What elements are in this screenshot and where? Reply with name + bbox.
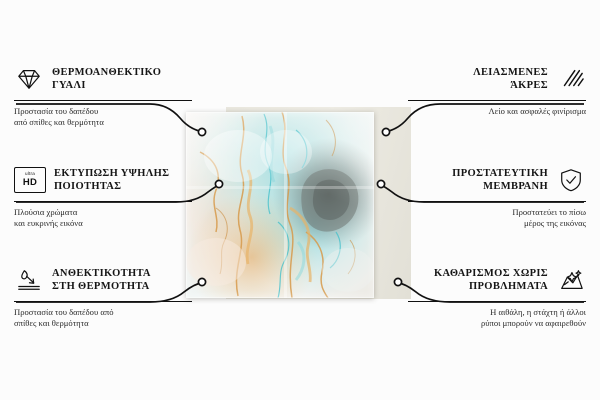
feature-easy-cleaning: ΚΑΘΑΡΙΣΜΟΣ ΧΩΡΙΣ ΠΡΟΒΛΗΜΑΤΑ Η αιθάλη, η …: [408, 263, 586, 330]
feature-title: ΘΕΡΜΟΑΝΘΕΚΤΙΚΟ ΓΥΑΛΙ: [52, 66, 161, 92]
feature-description: Πλούσια χρώματα και ευκρινής εικόνα: [14, 207, 192, 230]
feature-heat-resistant-glass: ΘΕΡΜΟΑΝΘΕΚΤΙΚΟ ΓΥΑΛΙ Προστασία του δαπέδ…: [14, 62, 192, 129]
feature-divider: [408, 201, 586, 202]
feature-description: Προστασία του δαπέδου από σπίθες και θερ…: [14, 106, 192, 129]
feature-title: ΠΡΟΣΤΑΤΕΥΤΙΚΗ ΜΕΜΒΡΑΝΗ: [452, 167, 548, 193]
feature-title: ΚΑΘΑΡΙΣΜΟΣ ΧΩΡΙΣ ΠΡΟΒΛΗΜΑΤΑ: [434, 267, 548, 293]
feature-description: Η αιθάλη, η στάχτη ή άλλοι ρύποι μπορούν…: [408, 307, 586, 330]
shield-check-icon: [556, 167, 586, 193]
easy-cleaning-sparkle-icon: [556, 267, 586, 293]
connector-dot-6: [394, 278, 401, 285]
feature-divider: [14, 100, 192, 101]
connector-dot-3: [198, 278, 205, 285]
feature-protective-film: ΠΡΟΣΤΑΤΕΥΤΙΚΗ ΜΕΜΒΡΑΝΗ Προστατεύει το πί…: [408, 163, 586, 230]
flame-heat-resistance-icon: [14, 267, 44, 293]
feature-divider: [408, 301, 586, 302]
feature-title: ΑΝΘΕΚΤΙΚΟΤΗΤΑ ΣΤΗ ΘΕΡΜΟΤΗΤΑ: [52, 267, 151, 293]
feature-description: Λείο και ασφαλές φινίρισμα: [408, 106, 586, 117]
feature-header: ultra HD ΕΚΤΥΠΩΣΗ ΥΨΗΛΗΣ ΠΟΙΟΤΗΤΑΣ: [14, 163, 192, 197]
ultra-hd-icon: ultra HD: [14, 167, 46, 193]
feature-description: Προστατεύει το πίσω μέρος της εικόνας: [408, 207, 586, 230]
feature-polished-edges: ΛΕΙΑΣΜΕΝΕΣ ΆΚΡΕΣ Λείο και ασφαλές φινίρι…: [408, 62, 586, 117]
infographic-stage: ΘΕΡΜΟΑΝΘΕΚΤΙΚΟ ΓΥΑΛΙ Προστασία του δαπέδ…: [0, 0, 600, 400]
feature-header: ΛΕΙΑΣΜΕΝΕΣ ΆΚΡΕΣ: [408, 62, 586, 96]
feature-title: ΕΚΤΥΠΩΣΗ ΥΨΗΛΗΣ ΠΟΙΟΤΗΤΑΣ: [54, 167, 169, 193]
connector-dot-1: [198, 128, 205, 135]
feature-header: ΠΡΟΣΤΑΤΕΥΤΙΚΗ ΜΕΜΒΡΑΝΗ: [408, 163, 586, 197]
feature-high-quality-print: ultra HD ΕΚΤΥΠΩΣΗ ΥΨΗΛΗΣ ΠΟΙΟΤΗΤΑΣ Πλούσ…: [14, 163, 192, 230]
feature-header: ΑΝΘΕΚΤΙΚΟΤΗΤΑ ΣΤΗ ΘΕΡΜΟΤΗΤΑ: [14, 263, 192, 297]
feature-header: ΘΕΡΜΟΑΝΘΕΚΤΙΚΟ ΓΥΑΛΙ: [14, 62, 192, 96]
diamond-icon: [14, 66, 44, 92]
polished-edges-icon: [556, 66, 586, 92]
feature-divider: [14, 301, 192, 302]
feature-divider: [408, 100, 586, 101]
feature-description: Προστασία του δαπέδου από σπίθες και θερ…: [14, 307, 192, 330]
connector-dot-5: [377, 180, 384, 187]
connector-dot-4: [382, 128, 389, 135]
feature-title: ΛΕΙΑΣΜΕΝΕΣ ΆΚΡΕΣ: [473, 66, 548, 92]
feature-divider: [14, 201, 192, 202]
feature-header: ΚΑΘΑΡΙΣΜΟΣ ΧΩΡΙΣ ΠΡΟΒΛΗΜΑΤΑ: [408, 263, 586, 297]
connector-dot-2: [215, 180, 222, 187]
feature-heat-resistance: ΑΝΘΕΚΤΙΚΟΤΗΤΑ ΣΤΗ ΘΕΡΜΟΤΗΤΑ Προστασία το…: [14, 263, 192, 330]
